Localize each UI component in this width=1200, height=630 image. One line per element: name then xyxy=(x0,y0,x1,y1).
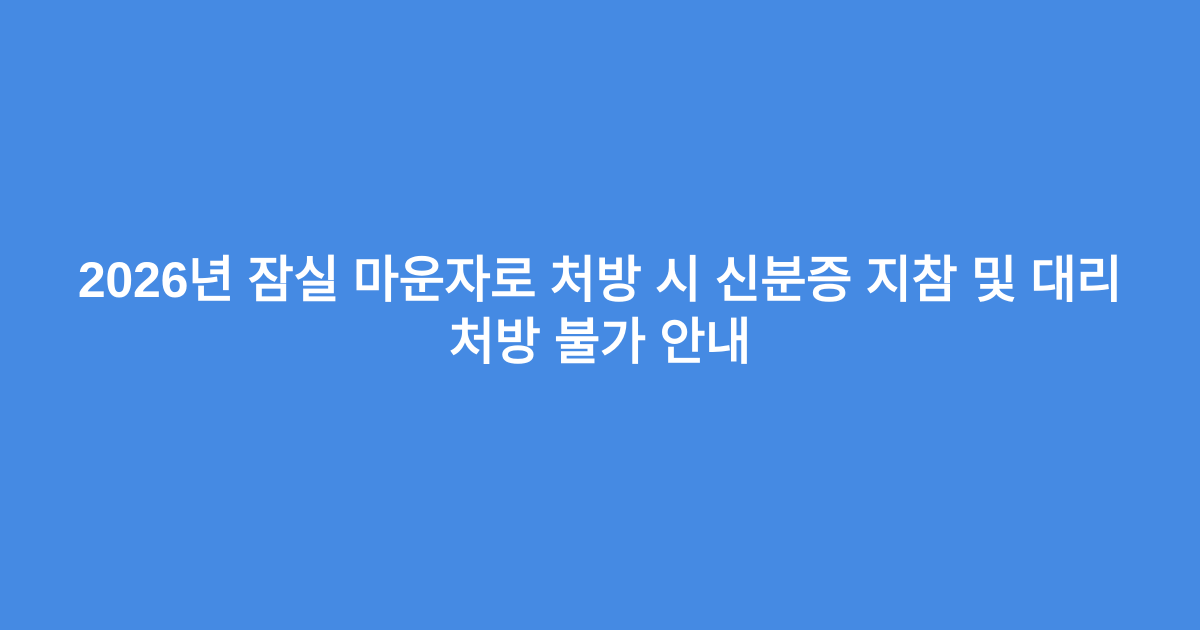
banner-card: 2026년 잠실 마운자로 처방 시 신분증 지참 및 대리 처방 불가 안내 xyxy=(0,0,1200,630)
banner-title: 2026년 잠실 마운자로 처방 시 신분증 지참 및 대리 처방 불가 안내 xyxy=(55,249,1145,373)
banner-content: 2026년 잠실 마운자로 처방 시 신분증 지참 및 대리 처방 불가 안내 xyxy=(55,249,1145,373)
